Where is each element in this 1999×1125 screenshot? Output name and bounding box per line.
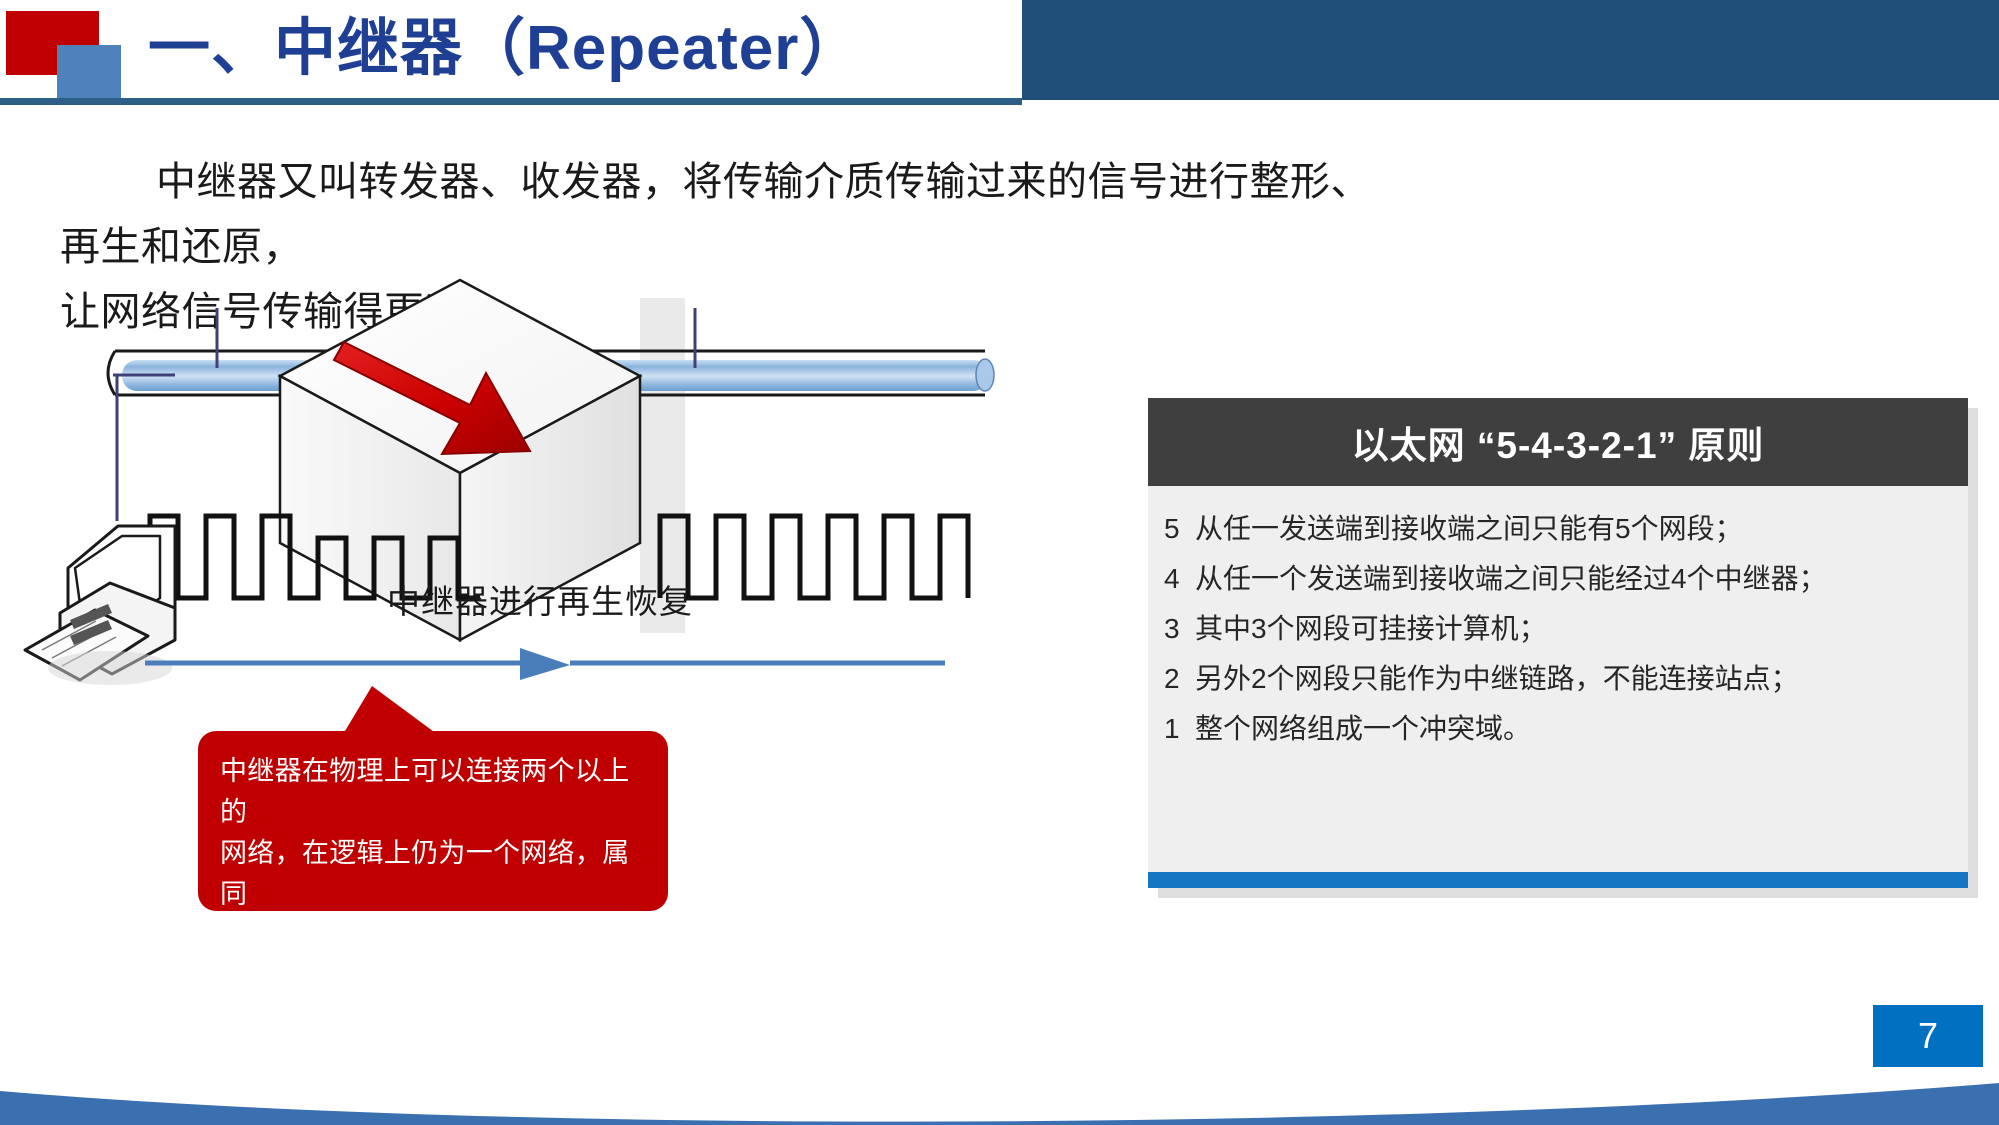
rule-text: 整个网络组成一个冲突域。 [1195, 704, 1531, 754]
slide-canvas: 一、中继器（Repeater） 中继器又叫转发器、收发器，将传输介质传输过来的信… [0, 0, 1999, 1125]
rule-item: 3 其中3个网段可挂接计算机； [1164, 604, 1954, 654]
rule-number: 2 [1164, 654, 1195, 704]
panel-header: 以太网 “5-4-3-2-1” 原则 [1148, 398, 1968, 486]
rule-text: 从任一个发送端到接收端之间只能经过4个中继器； [1195, 554, 1827, 604]
blue-accent-block-icon [57, 45, 121, 105]
ethernet-rule-panel: 以太网 “5-4-3-2-1” 原则 5 从任一发送端到接收端之间只能有5个网段… [1148, 398, 1968, 888]
signal-flow-arrow-icon [145, 648, 945, 680]
rule-number: 5 [1164, 504, 1195, 554]
callout-line-2: 网络，在逻辑上仍为一个网络，属同 [220, 833, 646, 915]
panel-title: 以太网 “5-4-3-2-1” 原则 [1352, 415, 1765, 469]
page-number-badge: 7 [1873, 1005, 1983, 1067]
panel-body: 5 从任一发送端到接收端之间只能有5个网段； 4 从任一个发送端到接收端之间只能… [1148, 486, 1968, 872]
diagram-caption: 中继器进行再生恢复 [387, 583, 693, 620]
rule-item: 2 另外2个网段只能作为中继链路，不能连接站点； [1164, 654, 1954, 704]
repeater-diagram: 中继器进行再生恢复 [0, 268, 1080, 708]
rule-item: 4 从任一个发送端到接收端之间只能经过4个中继器； [1164, 554, 1954, 604]
rule-item: 1 整个网络组成一个冲突域。 [1164, 704, 1954, 754]
rule-text: 另外2个网段只能作为中继链路，不能连接站点； [1195, 654, 1799, 704]
rule-number: 1 [1164, 704, 1195, 754]
page-title: 一、中继器（Repeater） [148, 6, 862, 92]
header-underline [0, 98, 1022, 105]
callout-box: 中继器在物理上可以连接两个以上的 网络，在逻辑上仍为一个网络，属同 一个冲突域。 [198, 731, 668, 911]
rule-number: 4 [1164, 554, 1195, 604]
footer-wave-decoration [0, 1065, 1999, 1125]
callout-line-1: 中继器在物理上可以连接两个以上的 [220, 751, 646, 833]
callout-line-3: 一个冲突域。 [220, 915, 646, 956]
rule-text: 从任一发送端到接收端之间只能有5个网段； [1195, 504, 1743, 554]
panel-footer-bar [1148, 872, 1968, 888]
rule-number: 3 [1164, 604, 1195, 654]
rule-text: 其中3个网段可挂接计算机； [1195, 604, 1547, 654]
callout-body: 中继器在物理上可以连接两个以上的 网络，在逻辑上仍为一个网络，属同 一个冲突域。 [198, 731, 668, 911]
computer-shadow [48, 651, 172, 685]
paragraph-line-1: 中继器又叫转发器、收发器，将传输介质传输过来的信号进行整形、再生和还原， [60, 160, 1371, 269]
rule-item: 5 从任一发送端到接收端之间只能有5个网段； [1164, 504, 1954, 554]
